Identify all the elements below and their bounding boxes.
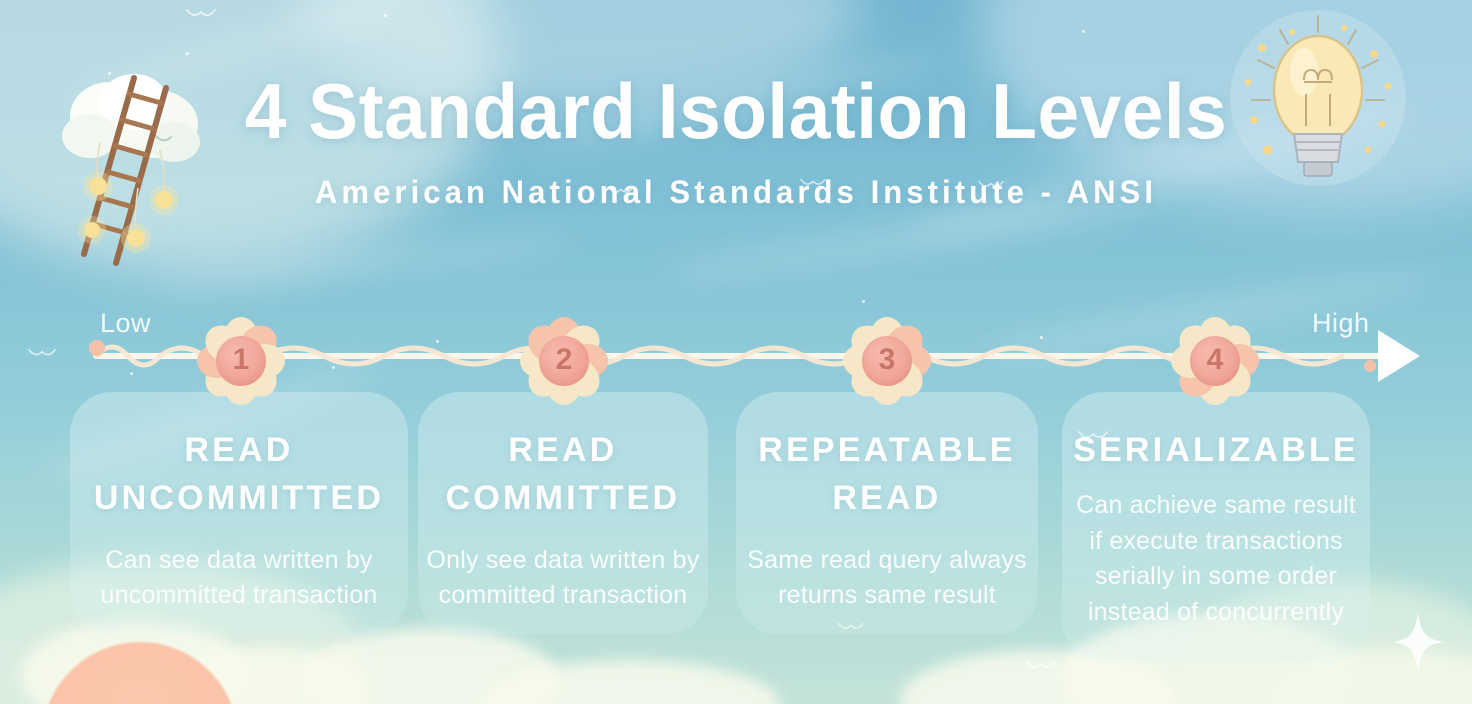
card-desc-line: Same read query always: [736, 543, 1038, 579]
card-description: Only see data written by committed trans…: [418, 543, 708, 614]
flower-core: 4: [1190, 336, 1240, 386]
card-title-line: READ: [70, 426, 408, 474]
card-desc-line: Only see data written by: [418, 543, 708, 579]
card-serializable[interactable]: SERIALIZABLE Can achieve same result if …: [1062, 392, 1370, 662]
card-title-line: READ: [418, 426, 708, 474]
card-description: Can achieve same result if execute trans…: [1062, 488, 1370, 630]
marker-number: 1: [233, 345, 250, 375]
flower-core: 2: [539, 336, 589, 386]
card-title-line: SERIALIZABLE: [1062, 426, 1370, 474]
lightbulb-icon: [1218, 8, 1418, 203]
card-title-line: COMMITTED: [418, 474, 708, 522]
card-read-committed[interactable]: READ COMMITTED Only see data written by …: [418, 392, 708, 634]
timeline-marker-1[interactable]: 1: [198, 318, 284, 404]
card-desc-line: if execute transactions: [1062, 524, 1370, 560]
card-desc-line: committed transaction: [418, 578, 708, 614]
card-desc-line: Can see data written by: [70, 543, 408, 579]
card-title: SERIALIZABLE: [1062, 426, 1370, 474]
cloud-ladder-lights-icon: [38, 58, 248, 273]
card-desc-line: returns same result: [736, 578, 1038, 614]
arrow-right-icon: [1378, 330, 1420, 382]
isolation-level-timeline: Low High 1: [0, 300, 1472, 408]
marker-number: 4: [1207, 345, 1224, 375]
card-title: READ COMMITTED: [418, 426, 708, 523]
card-description: Same read query always returns same resu…: [736, 543, 1038, 614]
flower-core: 1: [216, 336, 266, 386]
infographic-poster: 4 Standard Isolation Levels American Nat…: [0, 0, 1472, 704]
card-desc-line: Can achieve same result: [1062, 488, 1370, 524]
card-description: Can see data written by uncommitted tran…: [70, 543, 408, 614]
card-title: REPEATABLE READ: [736, 426, 1038, 523]
timeline-marker-4[interactable]: 4: [1172, 318, 1258, 404]
card-repeatable-read[interactable]: REPEATABLE READ Same read query always r…: [736, 392, 1038, 634]
marker-number: 3: [879, 345, 896, 375]
card-desc-line: serially in some order: [1062, 559, 1370, 595]
timeline-marker-2[interactable]: 2: [521, 318, 607, 404]
card-desc-line: uncommitted transaction: [70, 578, 408, 614]
flower-core: 3: [862, 336, 912, 386]
card-read-uncommitted[interactable]: READ UNCOMMITTED Can see data written by…: [70, 392, 408, 634]
card-desc-line: instead of concurrently: [1062, 595, 1370, 631]
timeline-marker-3[interactable]: 3: [844, 318, 930, 404]
card-title-line: UNCOMMITTED: [70, 474, 408, 522]
isolation-level-cards: READ UNCOMMITTED Can see data written by…: [0, 388, 1472, 668]
card-title-line: REPEATABLE: [736, 426, 1038, 474]
marker-number: 2: [556, 345, 573, 375]
card-title-line: READ: [736, 474, 1038, 522]
card-title: READ UNCOMMITTED: [70, 426, 408, 523]
